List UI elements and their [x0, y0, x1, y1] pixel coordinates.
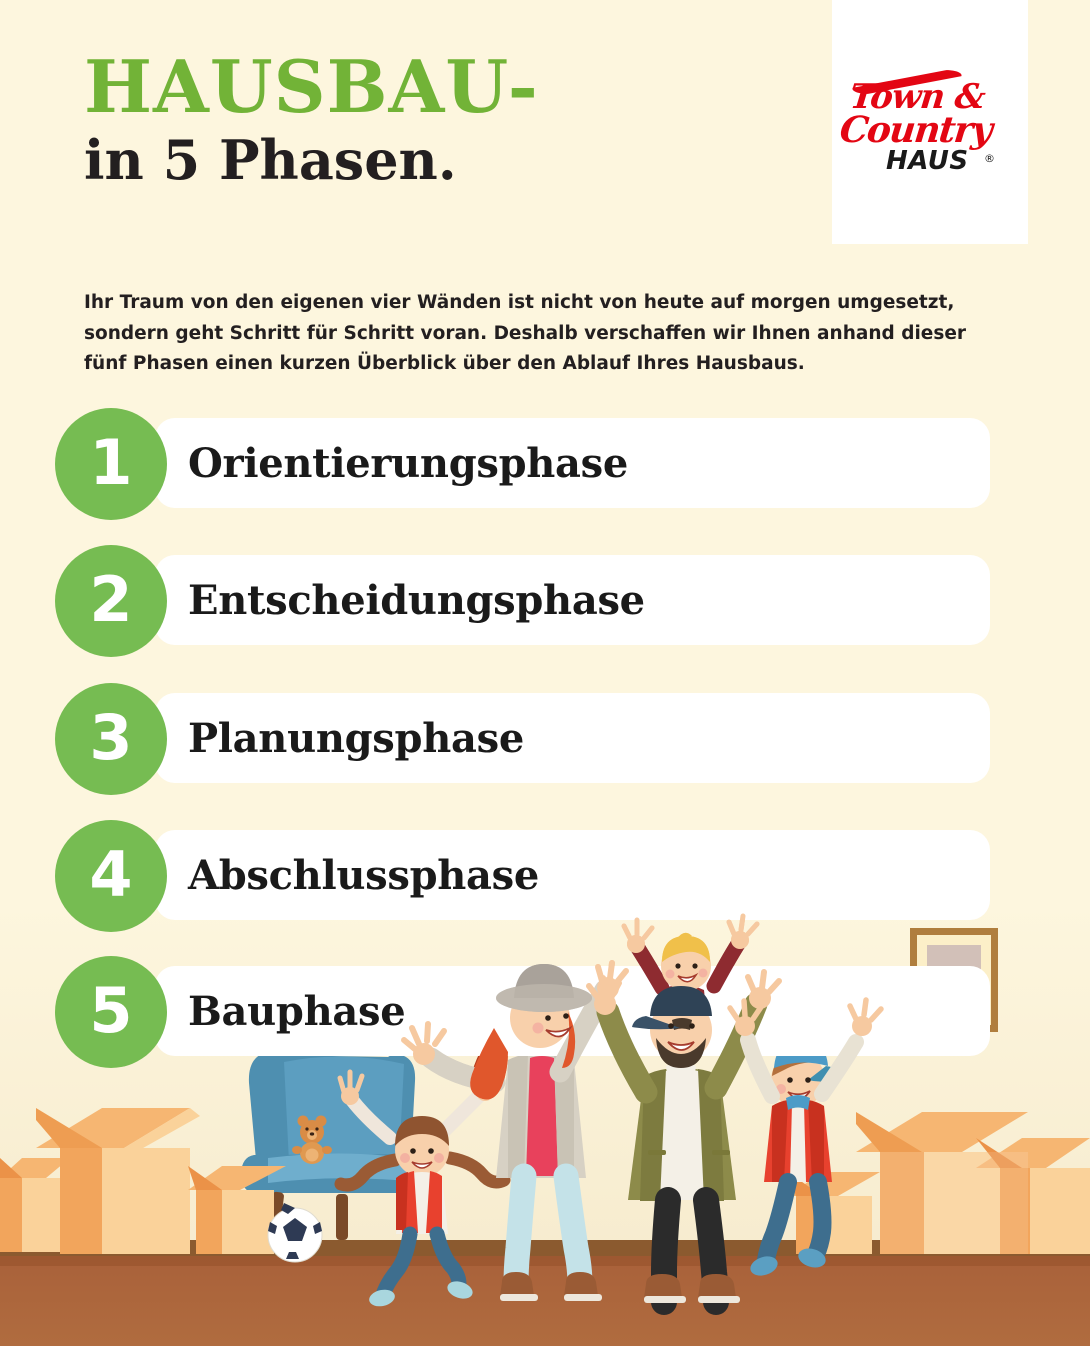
- phase-label: Orientierungsphase: [188, 408, 628, 518]
- page-title: HAUSBAU- in 5 Phasen.: [84, 52, 539, 190]
- phase-number: 2: [89, 569, 132, 631]
- phase-row-4[interactable]: 4 Abschlussphase: [0, 820, 1090, 930]
- infographic-page: 1 Orientierungsphase 2 Entscheidungsphas…: [0, 0, 1090, 1346]
- phase-label: Abschlussphase: [188, 820, 539, 930]
- phase-number-badge: 1: [55, 408, 167, 520]
- phase-label: Planungsphase: [188, 683, 524, 793]
- phase-number: 4: [89, 844, 132, 906]
- phase-number-badge: 2: [55, 545, 167, 657]
- phase-number: 3: [89, 707, 132, 769]
- phase-number: 5: [89, 980, 132, 1042]
- phase-number-badge: 5: [55, 956, 167, 1068]
- title-primary: HAUSBAU-: [84, 52, 539, 123]
- logo-country-text: Country: [838, 112, 993, 148]
- phase-row-5[interactable]: 5 Bauphase: [0, 956, 1090, 1066]
- title-secondary: in 5 Phasen.: [84, 131, 539, 190]
- phase-row-3[interactable]: 3 Planungsphase: [0, 683, 1090, 793]
- registered-trademark-icon: ®: [984, 152, 995, 165]
- phase-row-1[interactable]: 1 Orientierungsphase: [0, 408, 1090, 518]
- phase-label: Bauphase: [188, 956, 405, 1066]
- phase-number-badge: 3: [55, 683, 167, 795]
- phase-number: 1: [89, 432, 132, 494]
- intro-paragraph: Ihr Traum von den eigenen vier Wänden is…: [84, 288, 984, 380]
- phase-label: Entscheidungsphase: [188, 545, 645, 655]
- phase-row-2[interactable]: 2 Entscheidungsphase: [0, 545, 1090, 655]
- logo-haus-text: HAUS: [886, 148, 969, 174]
- brand-logo[interactable]: Town & Country HAUS ®: [832, 0, 1028, 244]
- phase-number-badge: 4: [55, 820, 167, 932]
